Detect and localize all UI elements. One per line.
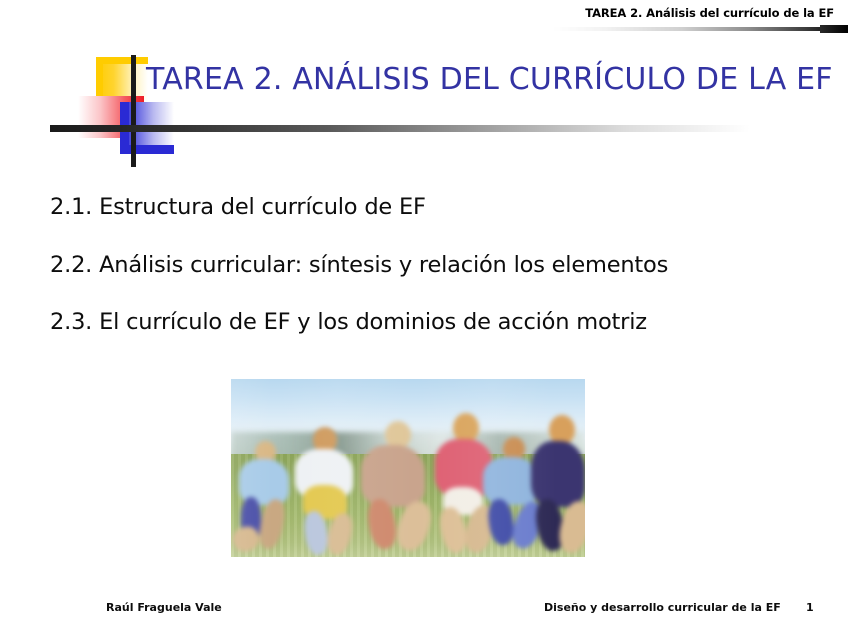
running-children-photo [231,379,585,557]
slide-header: TAREA 2. Análisis del currículo de la EF [0,0,848,40]
footer-page-number: 1 [806,601,814,614]
header-gradient-rule-cap [820,25,848,33]
header-running-title: TAREA 2. Análisis del currículo de la EF [585,6,834,20]
logo-vertical-bar-icon [131,55,136,167]
slide-footer: Raúl Fraguela Vale Diseño y desarrollo c… [0,598,848,622]
footer-author: Raúl Fraguela Vale [106,601,222,614]
slide-title-block: TAREA 2. ANÁLISIS DEL CURRÍCULO DE LA EF [0,50,848,170]
list-item: 2.2. Análisis curricular: síntesis y rel… [50,254,810,277]
list-item: 2.1. Estructura del currículo de EF [50,196,810,219]
header-gradient-rule [553,27,841,31]
page-title: TAREA 2. ANÁLISIS DEL CURRÍCULO DE LA EF [146,62,833,97]
list-item: 2.3. El currículo de EF y los dominios d… [50,311,810,334]
slide-content-list: 2.1. Estructura del currículo de EF 2.2.… [50,196,810,369]
title-horizontal-rule [50,125,750,132]
photo-runner [527,415,585,555]
footer-course-title: Diseño y desarrollo curricular de la EF [544,601,781,614]
